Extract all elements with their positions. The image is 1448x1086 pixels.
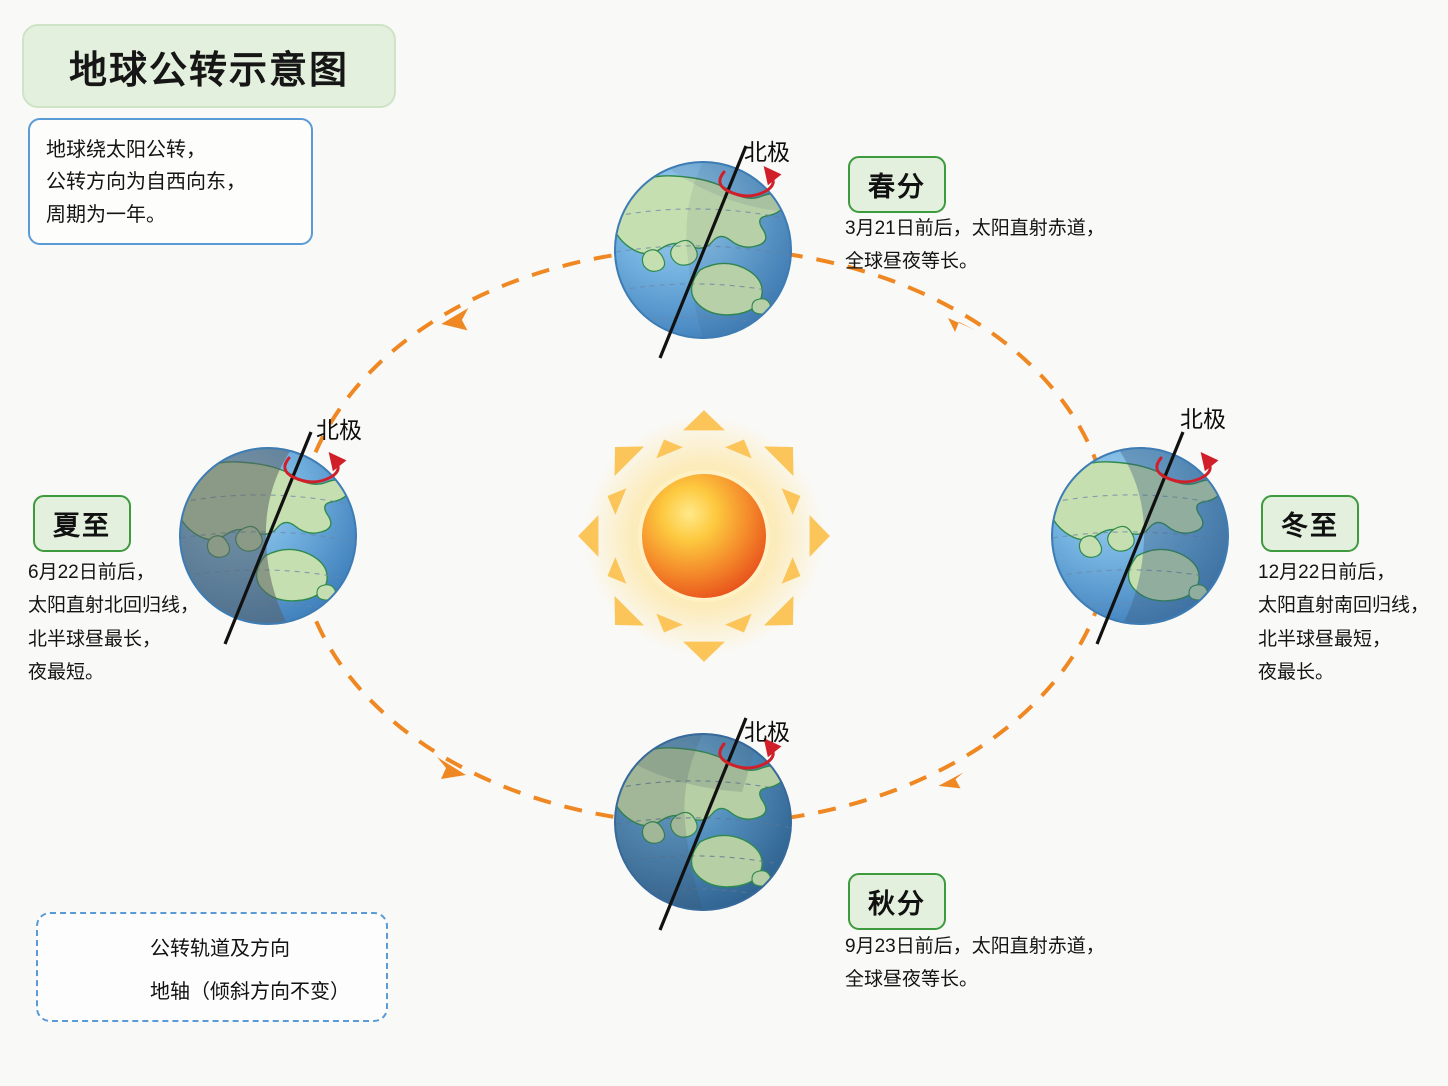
season-desc-summer-line-4: 夜最短。 <box>28 656 199 689</box>
season-chip-winter-solstice[interactable]: 冬至 <box>1261 495 1359 552</box>
season-desc-autumn-line-2: 全球昼夜等长。 <box>845 963 1105 996</box>
season-chip-spring-equinox[interactable]: 春分 <box>848 156 946 213</box>
pole-label-spring: 北极 <box>744 133 790 167</box>
season-desc-spring-line-2: 全球昼夜等长。 <box>845 245 1105 278</box>
season-desc-autumn-equinox: 9月23日前后，太阳直射赤道， 全球昼夜等长。 <box>845 930 1105 997</box>
earth-globe-winter <box>1048 432 1242 644</box>
earth-globe-autumn <box>611 718 792 930</box>
sun-core <box>642 474 766 598</box>
pole-label-autumn: 北极 <box>744 713 790 747</box>
season-desc-winter-line-4: 夜最长。 <box>1258 656 1429 689</box>
intro-line-3: 周期为一年。 <box>46 199 295 231</box>
orbit-arrow-bottom-right <box>937 772 967 792</box>
legend-item-axis: 地轴（倾斜方向不变） <box>150 975 350 1004</box>
legend-item-orbit: 公转轨道及方向 <box>150 932 290 961</box>
intro-description-box: 地球绕太阳公转， 公转方向为自西向东， 周期为一年。 <box>28 118 313 245</box>
season-desc-winter-solstice: 12月22日前后， 太阳直射南回归线， 北半球昼最短， 夜最长。 <box>1258 556 1429 689</box>
page-title-text: 地球公转示意图 <box>69 39 349 94</box>
pole-label-winter: 北极 <box>1180 400 1226 434</box>
legend-label-axis: 地轴（倾斜方向不变） <box>150 975 350 1004</box>
intro-line-2: 公转方向为自西向东， <box>46 166 295 198</box>
season-chip-autumn-equinox[interactable]: 秋分 <box>848 873 946 930</box>
earth-globe-spring <box>611 146 792 358</box>
season-desc-summer-line-1: 6月22日前后， <box>28 556 199 589</box>
legend-label-orbit: 公转轨道及方向 <box>150 932 290 961</box>
season-desc-summer-line-2: 太阳直射北回归线， <box>28 589 199 622</box>
sun <box>578 410 830 662</box>
intro-line-1: 地球绕太阳公转， <box>46 134 295 166</box>
season-chip-summer-solstice[interactable]: 夏至 <box>33 495 131 552</box>
season-desc-autumn-line-1: 9月23日前后，太阳直射赤道， <box>845 930 1105 963</box>
legend-box <box>36 912 388 1022</box>
pole-label-summer: 北极 <box>316 411 362 445</box>
season-desc-summer-solstice: 6月22日前后， 太阳直射北回归线， 北半球昼最长， 夜最短。 <box>28 556 199 689</box>
season-desc-winter-line-2: 太阳直射南回归线， <box>1258 589 1429 622</box>
diagram-canvas: 地球公转示意图 地球绕太阳公转， 公转方向为自西向东， 周期为一年。 北极 北极… <box>0 0 1448 1086</box>
season-desc-winter-line-1: 12月22日前后， <box>1258 556 1429 589</box>
season-desc-winter-line-3: 北半球昼最短， <box>1258 623 1429 656</box>
page-title: 地球公转示意图 <box>22 24 396 108</box>
season-desc-spring-equinox: 3月21日前后，太阳直射赤道， 全球昼夜等长。 <box>845 212 1105 279</box>
season-desc-summer-line-3: 北半球昼最长， <box>28 623 199 656</box>
orbit-arrow-top-left <box>440 308 472 334</box>
season-desc-spring-line-1: 3月21日前后，太阳直射赤道， <box>845 212 1105 245</box>
